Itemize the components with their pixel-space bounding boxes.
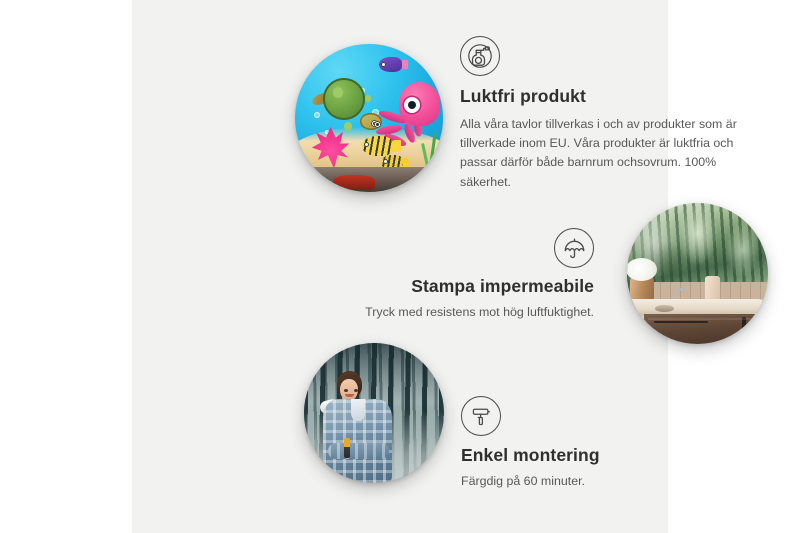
person-figure <box>319 371 400 483</box>
feature-waterproof-print: Stampa impermeabile Tryck med resistens … <box>344 228 594 322</box>
vanity-cabinet <box>644 314 768 344</box>
fish-eye <box>364 142 369 147</box>
person-face <box>340 379 358 401</box>
content-panel: Luktfri produkt Alla våra tavlor tillver… <box>132 0 668 533</box>
no-fragrance-icon <box>460 36 500 76</box>
ocean-artwork <box>295 44 443 192</box>
turtle-figure <box>314 75 379 131</box>
feature-odourless: Luktfri produkt Alla våra tavlor tillver… <box>460 36 760 192</box>
fish-figure <box>362 136 393 157</box>
feature-title: Luktfri produkt <box>460 86 760 108</box>
forest-artwork <box>304 343 444 483</box>
feature-description: Färgdig på 60 minuter. <box>461 472 741 491</box>
feature-easy-mounting: Enkel montering Färgdig på 60 minuter. <box>461 396 741 491</box>
feature-description: Alla våra tavlor tillverkas i och av pro… <box>460 115 760 192</box>
icon-wrapper <box>344 228 594 268</box>
octopus-head <box>399 82 441 125</box>
bathroom-artwork <box>627 203 768 344</box>
umbrella-icon <box>554 228 594 268</box>
person-shirt <box>323 399 393 483</box>
product-feature-infographic: Luktfri produkt Alla våra tavlor tillver… <box>0 0 800 533</box>
feature-title: Stampa impermeabile <box>344 276 594 298</box>
flowers-shape <box>627 258 657 281</box>
feature-description: Tryck med resistens mot hög luftfuktighe… <box>344 303 594 322</box>
turtle-shell <box>323 78 365 120</box>
person-arm <box>328 443 390 460</box>
feature-title: Enkel montering <box>461 445 741 467</box>
countertop <box>627 299 768 316</box>
paint-brush <box>344 438 350 458</box>
image-bathroom-botanical <box>627 203 768 344</box>
fish-eye <box>381 62 386 67</box>
image-woman-paint-roller <box>304 343 444 483</box>
soap-dish <box>655 305 673 312</box>
ocean-floor <box>295 167 443 192</box>
cabinet-handle <box>742 317 746 335</box>
image-ocean-cartoon <box>295 44 443 192</box>
paint-roller-icon <box>461 396 501 436</box>
octopus-eye <box>404 97 420 113</box>
fish-figure <box>379 57 401 72</box>
